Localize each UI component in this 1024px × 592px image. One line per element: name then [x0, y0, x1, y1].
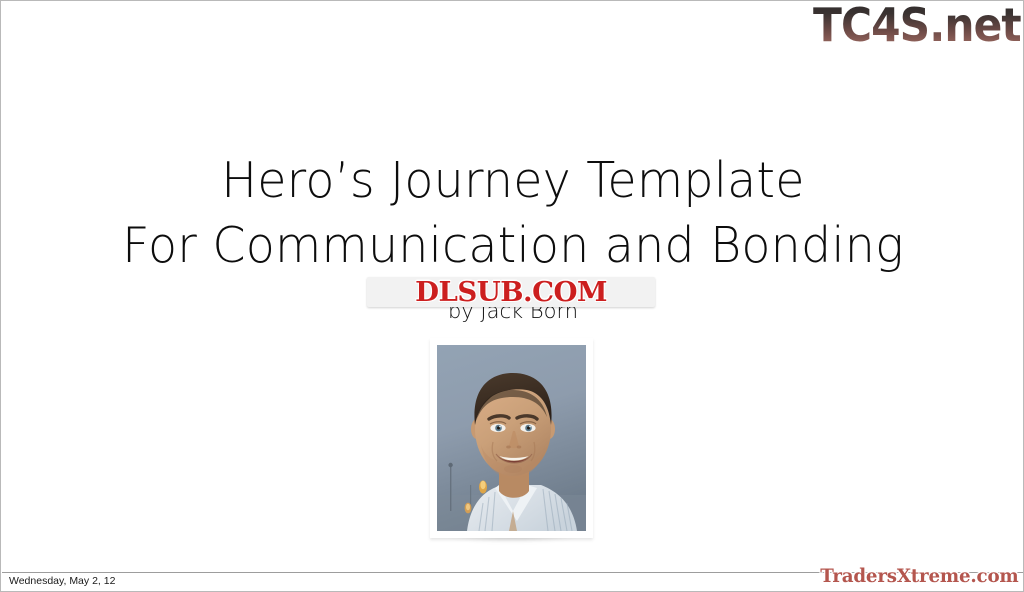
portrait-photo	[437, 345, 586, 531]
tc4s-net-logo: TC4S.net	[813, 0, 1021, 51]
dlsub-watermark-text: DLSUB.COM	[415, 278, 607, 307]
tradersxtreme-logo: TradersXtreme.com	[821, 563, 1019, 589]
title-line-2: For Communication and Bonding	[16, 213, 1009, 279]
dlsub-watermark: DLSUB.COM	[367, 277, 655, 307]
avatar	[430, 338, 593, 538]
title-line-1: Hero’s Journey Template	[16, 149, 1009, 213]
portrait-illustration	[437, 345, 586, 531]
footer-date: Wednesday, May 2, 12	[9, 574, 115, 588]
page-title: Hero’s Journey Template For Communicatio…	[1, 149, 1024, 279]
presentation-slide: TC4S.net TC4S.net Hero’s Journey Templat…	[0, 0, 1024, 592]
